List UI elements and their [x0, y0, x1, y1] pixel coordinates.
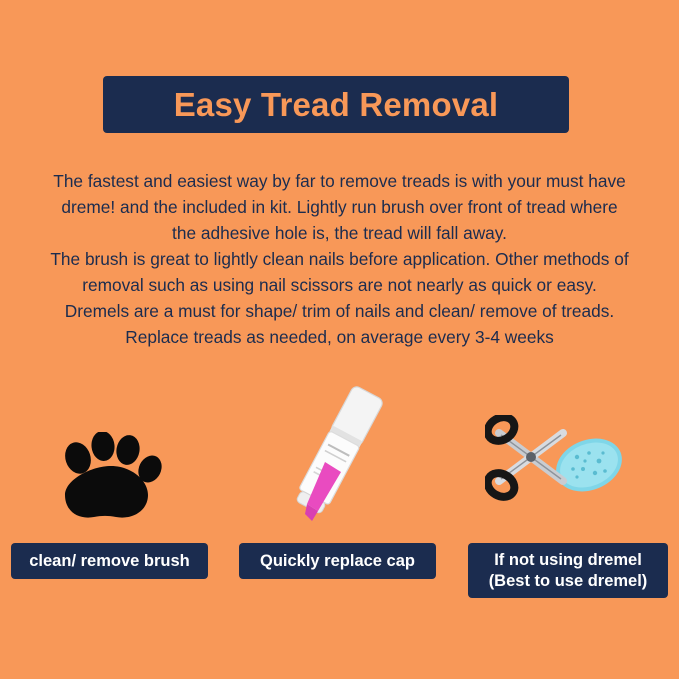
caption-banner-clean-remove-brush: clean/ remove brush: [11, 543, 208, 579]
description-text: The fastest and easiest way by far to re…: [24, 168, 655, 350]
description-line-2: dreme! and the included in kit. Lightly …: [24, 194, 655, 220]
caption-banner-quickly-replace-cap: Quickly replace cap: [239, 543, 436, 579]
description-line-5: removal such as using nail scissors are …: [24, 272, 655, 298]
description-line-4: The brush is great to lightly clean nail…: [24, 246, 655, 272]
description-line-3: the adhesive hole is, the tread will fal…: [24, 220, 655, 246]
caption-label-3-line-1: If not using dremel: [489, 550, 648, 571]
page-title: Easy Tread Removal: [174, 88, 499, 121]
title-banner: Easy Tread Removal: [103, 76, 569, 133]
description-line-7: Replace treads as needed, on average eve…: [24, 324, 655, 350]
infographic-page: Easy Tread Removal The fastest and easie…: [0, 0, 679, 679]
paw-print-figure: [56, 432, 166, 522]
scissors-icon: [485, 415, 650, 525]
caption-banner-if-not-using-dremel: If not using dremel (Best to use dremel): [468, 543, 668, 598]
caption-label-3-line-2: (Best to use dremel): [489, 571, 648, 592]
caption-label-2: Quickly replace cap: [260, 551, 415, 572]
scissors-figure: [485, 415, 650, 525]
paw-icon: [56, 432, 166, 522]
pen-icon: [255, 380, 425, 525]
description-line-1: The fastest and easiest way by far to re…: [24, 168, 655, 194]
caption-label-1: clean/ remove brush: [29, 551, 189, 572]
glue-pen-figure: [255, 380, 425, 525]
description-line-6: Dremels are a must for shape/ trim of na…: [24, 298, 655, 324]
